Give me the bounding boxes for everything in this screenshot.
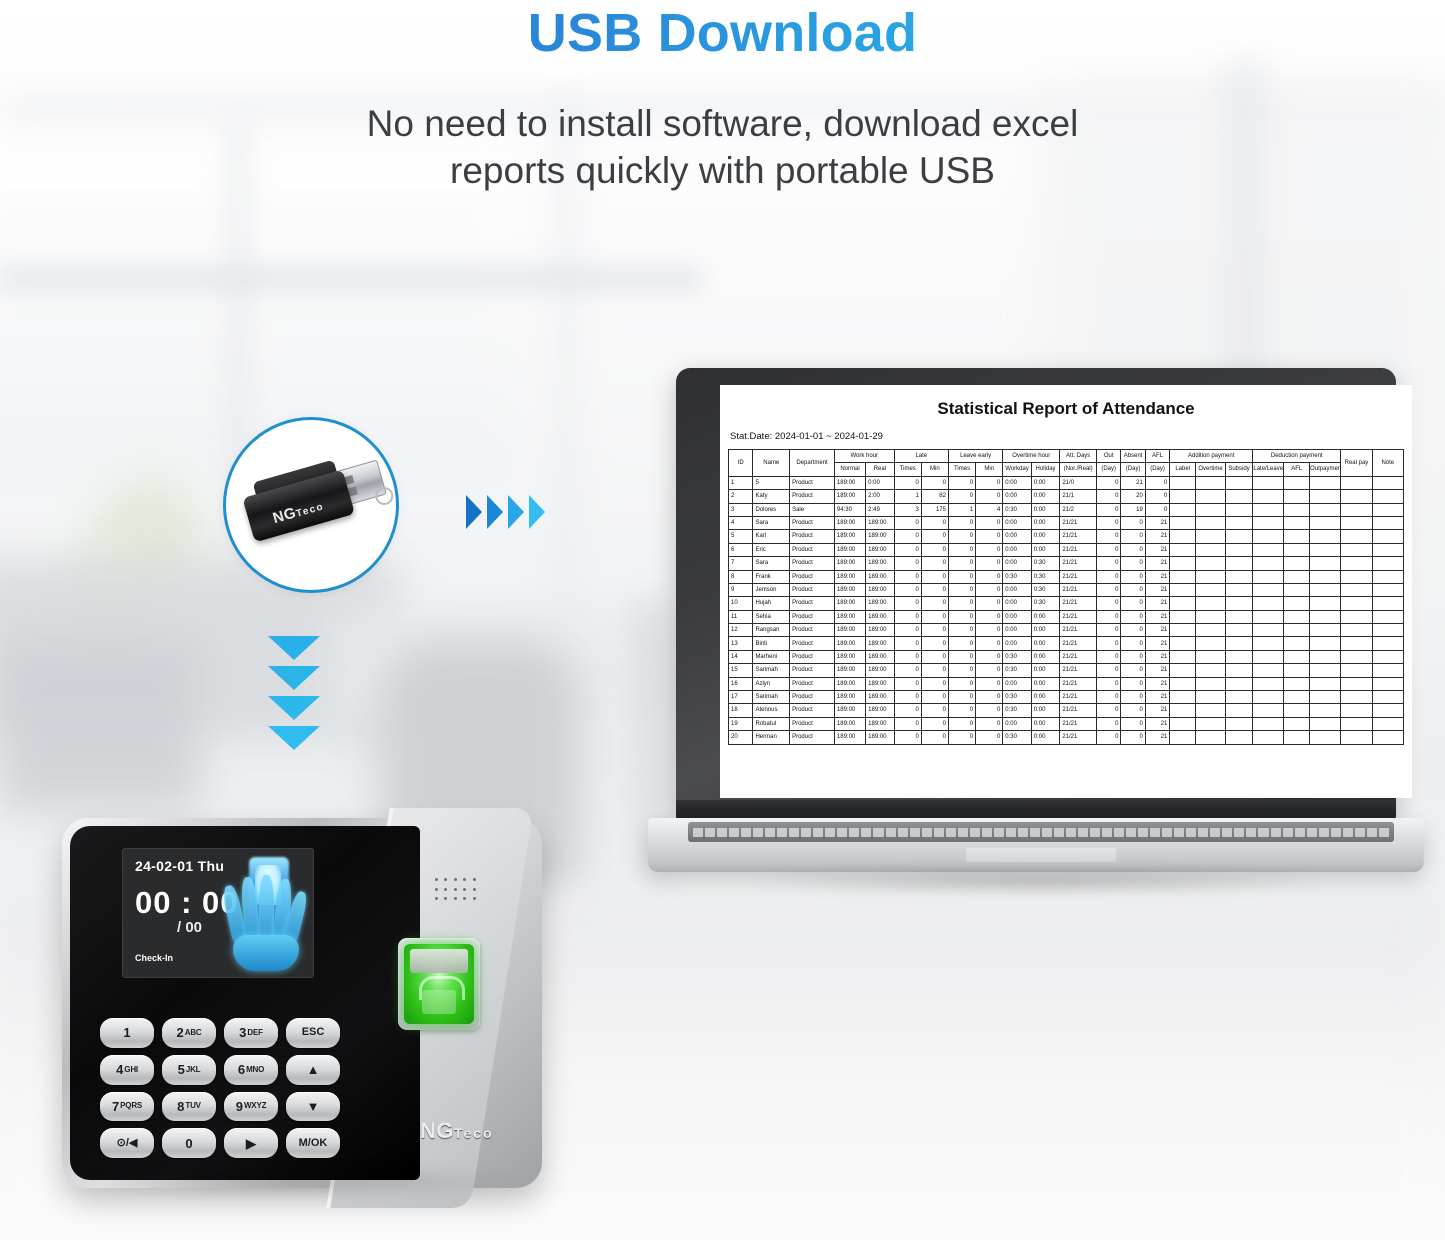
- cell-empty: [1372, 624, 1403, 637]
- laptop-key[interactable]: [1054, 828, 1064, 837]
- cell-empty: [1196, 503, 1226, 516]
- keypad-key-main: ▶: [246, 1137, 256, 1150]
- speaker-hole: [435, 897, 438, 900]
- chevron-right-icon: [508, 495, 524, 529]
- fingerprint-sensor[interactable]: [398, 938, 480, 1030]
- table-row: 17SarimahProduct189:00189:0000000:300:00…: [729, 691, 1404, 704]
- cell-empty: [1253, 731, 1284, 744]
- cell-absent: 0: [1121, 731, 1145, 744]
- keypad-key-sub: ABC: [185, 1029, 202, 1037]
- cell-absent: 0: [1121, 664, 1145, 677]
- cell-empty: [1310, 624, 1341, 637]
- cell-ot_holiday: 0:00: [1031, 637, 1060, 650]
- cell-empty: [1196, 637, 1226, 650]
- cell-late_times: 0: [894, 530, 921, 543]
- cell-empty: [1372, 717, 1403, 730]
- cell-out: 0: [1096, 637, 1120, 650]
- sub-overtime: Overtime: [1196, 463, 1226, 476]
- terminal-shadow: [80, 1168, 520, 1196]
- cell-name: Herman: [753, 731, 790, 744]
- cell-att_days: 21/1: [1060, 490, 1097, 503]
- laptop-key[interactable]: [1114, 828, 1124, 837]
- laptop-key[interactable]: [849, 828, 859, 837]
- cell-empty: [1372, 691, 1403, 704]
- cell-ot_workday: 0:00: [1003, 557, 1032, 570]
- keypad-key-sub: GHI: [124, 1066, 138, 1074]
- cell-att_days: 21/21: [1060, 691, 1097, 704]
- col-id: ID: [729, 450, 753, 477]
- subtitle-line-2: reports quickly with portable USB: [190, 147, 1255, 194]
- table-row: 15SarimahProduct189:00189:0000000:300:00…: [729, 664, 1404, 677]
- cell-name: Sarimah: [753, 664, 790, 677]
- laptop-key[interactable]: [705, 828, 715, 837]
- sub-out-day: (Day): [1096, 463, 1120, 476]
- keypad-key-sub: WXYZ: [244, 1102, 266, 1110]
- cell-out: 0: [1096, 704, 1120, 717]
- cell-normal: 189:00: [834, 610, 865, 623]
- cell-empty: [1170, 664, 1196, 677]
- laptop-key[interactable]: [789, 828, 799, 837]
- sub-le-times: Times: [948, 463, 975, 476]
- cell-name: Hujah: [753, 597, 790, 610]
- cell-empty: [1341, 597, 1372, 610]
- cell-att_days: 21/21: [1060, 516, 1097, 529]
- keypad-button-3[interactable]: 3DEF: [224, 1018, 278, 1048]
- laptop-key[interactable]: [1042, 828, 1052, 837]
- laptop-key[interactable]: [1319, 828, 1329, 837]
- keypad-button-[interactable]: ▶: [224, 1128, 278, 1158]
- cell-empty: [1170, 516, 1196, 529]
- report-title: Statistical Report of Attendance: [728, 399, 1404, 419]
- cell-empty: [1372, 731, 1403, 744]
- sub-late-min: Min: [921, 463, 948, 476]
- laptop-key[interactable]: [898, 828, 908, 837]
- laptop-key[interactable]: [1210, 828, 1220, 837]
- laptop-key[interactable]: [1126, 828, 1136, 837]
- cell-afl: 21: [1145, 704, 1169, 717]
- cell-out: 0: [1096, 557, 1120, 570]
- terminal-brand-main: NG: [420, 1118, 454, 1143]
- cell-id: 19: [729, 717, 753, 730]
- cell-empty: [1372, 650, 1403, 663]
- cell-empty: [1284, 650, 1310, 663]
- cell-empty: [1253, 597, 1284, 610]
- keypad-button-8[interactable]: 8TUV: [162, 1092, 216, 1122]
- table-row: 13BintiProduct189:00189:0000000:000:0021…: [729, 637, 1404, 650]
- keypad-button-[interactable]: ▲: [286, 1055, 340, 1085]
- cell-absent: 0: [1121, 677, 1145, 690]
- cell-le_times: 0: [948, 583, 975, 596]
- laptop-key[interactable]: [1307, 828, 1317, 837]
- laptop-key[interactable]: [825, 828, 835, 837]
- cell-dept: Product: [790, 570, 835, 583]
- cell-le_times: 0: [948, 543, 975, 556]
- keypad-key-main: 3: [239, 1026, 246, 1039]
- cell-afl: 21: [1145, 557, 1169, 570]
- keypad-button-9[interactable]: 9WXYZ: [224, 1092, 278, 1122]
- cell-out: 0: [1096, 717, 1120, 730]
- cell-normal: 189:00: [834, 557, 865, 570]
- speaker-hole: [473, 878, 476, 881]
- laptop-key[interactable]: [910, 828, 920, 837]
- table-row: 9JemsonProduct189:00189:0000000:000:3021…: [729, 583, 1404, 596]
- table-row: 16AzlynProduct189:00189:0000000:000:0021…: [729, 677, 1404, 690]
- keypad-button-mok[interactable]: M/OK: [286, 1128, 340, 1158]
- laptop-key[interactable]: [922, 828, 932, 837]
- laptop-key[interactable]: [1150, 828, 1160, 837]
- laptop-key[interactable]: [1090, 828, 1100, 837]
- cell-empty: [1253, 650, 1284, 663]
- cell-empty: [1372, 677, 1403, 690]
- sub-outpayment: Outpayment: [1310, 463, 1341, 476]
- laptop-key[interactable]: [1066, 828, 1076, 837]
- cell-normal: 189:00: [834, 637, 865, 650]
- cell-afl: 0: [1145, 476, 1169, 489]
- laptop-key[interactable]: [1078, 828, 1088, 837]
- cell-empty: [1284, 637, 1310, 650]
- cell-empty: [1170, 624, 1196, 637]
- laptop-key[interactable]: [1271, 828, 1281, 837]
- cell-late_times: 0: [894, 624, 921, 637]
- laptop-key[interactable]: [741, 828, 751, 837]
- cell-empty: [1170, 503, 1196, 516]
- laptop-key[interactable]: [934, 828, 944, 837]
- cell-att_days: 21/21: [1060, 543, 1097, 556]
- cell-name: Sehia: [753, 610, 790, 623]
- table-row: 8FrankProduct189:00189:0000000:300:3021/…: [729, 570, 1404, 583]
- cell-empty: [1284, 557, 1310, 570]
- laptop-key[interactable]: [813, 828, 823, 837]
- laptop-key[interactable]: [1138, 828, 1148, 837]
- cell-empty: [1196, 731, 1226, 744]
- laptop-keyboard[interactable]: [688, 822, 1394, 842]
- cell-normal: 189:00: [834, 530, 865, 543]
- chevron-right-icon: [487, 495, 503, 529]
- laptop-key[interactable]: [1222, 828, 1232, 837]
- cell-ot_holiday: 0:00: [1031, 650, 1060, 663]
- cell-empty: [1170, 570, 1196, 583]
- hand-scan-icon: [225, 857, 309, 973]
- cell-absent: 20: [1121, 490, 1145, 503]
- table-row: 11SehiaProduct189:00189:0000000:000:0021…: [729, 610, 1404, 623]
- speaker-hole: [463, 888, 466, 891]
- cell-le_min: 0: [976, 610, 1003, 623]
- keypad-button-5[interactable]: 5JKL: [162, 1055, 216, 1085]
- cell-out: 0: [1096, 664, 1120, 677]
- cell-att_days: 21/21: [1060, 664, 1097, 677]
- speaker-hole: [473, 888, 476, 891]
- cell-empty: [1341, 731, 1372, 744]
- cell-att_days: 21/21: [1060, 570, 1097, 583]
- laptop-key[interactable]: [765, 828, 775, 837]
- cell-normal: 189:00: [834, 570, 865, 583]
- cell-late_times: 0: [894, 731, 921, 744]
- cell-empty: [1225, 557, 1252, 570]
- cell-empty: [1253, 557, 1284, 570]
- laptop-key[interactable]: [1283, 828, 1293, 837]
- laptop-key[interactable]: [753, 828, 763, 837]
- cell-empty: [1284, 597, 1310, 610]
- cell-empty: [1225, 503, 1252, 516]
- terminal-clock-seconds: / 00: [177, 919, 202, 936]
- cell-att_days: 21/21: [1060, 624, 1097, 637]
- cell-absent: 0: [1121, 543, 1145, 556]
- keypad-button-7[interactable]: 7PQRS: [100, 1092, 154, 1122]
- report-table: ID Name Department Work hour Late Leave …: [728, 449, 1404, 745]
- terminal-keypad[interactable]: 12ABC3DEFESC4GHI5JKL6MNO▲7PQRS8TUV9WXYZ▼…: [100, 1018, 340, 1158]
- keypad-button-[interactable]: ▼: [286, 1092, 340, 1122]
- usb-brand-logo: NGTeco: [271, 496, 326, 527]
- chevron-down-icon: [268, 726, 320, 750]
- cell-name: Dolores: [753, 503, 790, 516]
- cell-dept: Product: [790, 543, 835, 556]
- cell-ot_holiday: 0:00: [1031, 731, 1060, 744]
- laptop-key[interactable]: [777, 828, 787, 837]
- laptop-lid: Statistical Report of Attendance Stat.Da…: [676, 368, 1396, 820]
- laptop-key[interactable]: [1379, 828, 1389, 837]
- cell-ot_holiday: 0:30: [1031, 583, 1060, 596]
- cell-ot_workday: 0:00: [1003, 490, 1032, 503]
- cell-dept: Product: [790, 557, 835, 570]
- cell-dept: Product: [790, 624, 835, 637]
- cell-empty: [1341, 570, 1372, 583]
- keypad-key-main: 7: [112, 1100, 119, 1113]
- cell-ot_workday: 0:00: [1003, 610, 1032, 623]
- laptop-key[interactable]: [994, 828, 1004, 837]
- cell-late_min: 0: [921, 650, 948, 663]
- cell-le_min: 0: [976, 731, 1003, 744]
- cell-empty: [1310, 570, 1341, 583]
- laptop-key[interactable]: [861, 828, 871, 837]
- cell-normal: 189:00: [834, 597, 865, 610]
- laptop-key[interactable]: [1006, 828, 1016, 837]
- laptop-key[interactable]: [1162, 828, 1172, 837]
- laptop-key[interactable]: [1234, 828, 1244, 837]
- cell-empty: [1310, 597, 1341, 610]
- cell-out: 0: [1096, 650, 1120, 663]
- cell-empty: [1341, 583, 1372, 596]
- cell-ot_workday: 0:00: [1003, 597, 1032, 610]
- cell-normal: 189:00: [834, 731, 865, 744]
- laptop-key[interactable]: [1018, 828, 1028, 837]
- cell-out: 0: [1096, 677, 1120, 690]
- laptop-key[interactable]: [1355, 828, 1365, 837]
- laptop-key[interactable]: [1295, 828, 1305, 837]
- laptop-screen: Statistical Report of Attendance Stat.Da…: [720, 385, 1412, 798]
- cell-empty: [1310, 731, 1341, 744]
- speaker-hole: [444, 878, 447, 881]
- background-monitor: [0, 640, 200, 810]
- cell-absent: 0: [1121, 624, 1145, 637]
- cell-late_times: 0: [894, 610, 921, 623]
- usb-brand-suffix: Teco: [295, 501, 326, 519]
- laptop-key[interactable]: [970, 828, 980, 837]
- keypad-button-1[interactable]: 1: [100, 1018, 154, 1048]
- keypad-button-6[interactable]: 6MNO: [224, 1055, 278, 1085]
- keypad-key-main: 1: [123, 1026, 130, 1039]
- keypad-button-0[interactable]: 0: [162, 1128, 216, 1158]
- cell-afl: 21: [1145, 717, 1169, 730]
- cell-afl: 21: [1145, 583, 1169, 596]
- attendance-report: Statistical Report of Attendance Stat.Da…: [720, 385, 1412, 798]
- cell-empty: [1284, 610, 1310, 623]
- laptop-trackpad[interactable]: [966, 848, 1116, 862]
- cell-empty: [1170, 610, 1196, 623]
- laptop-key[interactable]: [1198, 828, 1208, 837]
- report-table-head: ID Name Department Work hour Late Leave …: [729, 450, 1404, 477]
- laptop-key[interactable]: [1174, 828, 1184, 837]
- cell-real: 189:00: [866, 717, 895, 730]
- table-row: 5KarlProduct189:00189:0000000:000:0021/2…: [729, 530, 1404, 543]
- cell-empty: [1310, 557, 1341, 570]
- cell-empty: [1225, 490, 1252, 503]
- keypad-key-main: 9: [236, 1100, 243, 1113]
- cell-late_min: 0: [921, 664, 948, 677]
- cell-empty: [1253, 516, 1284, 529]
- cell-empty: [1170, 704, 1196, 717]
- cell-ot_workday: 0:00: [1003, 717, 1032, 730]
- cell-empty: [1341, 704, 1372, 717]
- cell-empty: [1253, 691, 1284, 704]
- cell-late_min: 0: [921, 543, 948, 556]
- cell-att_days: 21/21: [1060, 583, 1097, 596]
- cell-late_min: 0: [921, 704, 948, 717]
- laptop-key[interactable]: [693, 828, 703, 837]
- cell-empty: [1253, 583, 1284, 596]
- laptop-key[interactable]: [717, 828, 727, 837]
- cell-empty: [1341, 516, 1372, 529]
- cell-empty: [1341, 476, 1372, 489]
- cell-empty: [1341, 490, 1372, 503]
- cell-normal: 189:00: [834, 677, 865, 690]
- cell-late_min: 0: [921, 476, 948, 489]
- cell-le_times: 0: [948, 490, 975, 503]
- report-stat-date: Stat.Date: 2024-01-01 ~ 2024-01-29: [730, 431, 1404, 442]
- cell-real: 189:00: [866, 570, 895, 583]
- cell-afl: 21: [1145, 597, 1169, 610]
- cell-afl: 0: [1145, 490, 1169, 503]
- chevron-down-icon: [268, 696, 320, 720]
- cell-late_times: 0: [894, 637, 921, 650]
- sub-absent-day: (Day): [1121, 463, 1145, 476]
- laptop-key[interactable]: [729, 828, 739, 837]
- cell-dept: Product: [790, 664, 835, 677]
- cell-empty: [1225, 543, 1252, 556]
- cell-absent: 0: [1121, 610, 1145, 623]
- cell-id: 13: [729, 637, 753, 650]
- fingerprint-pad: [422, 990, 456, 1014]
- laptop-key[interactable]: [801, 828, 811, 837]
- cell-empty: [1284, 731, 1310, 744]
- cell-late_times: 0: [894, 677, 921, 690]
- keypad-button-esc[interactable]: ESC: [286, 1018, 340, 1048]
- cell-dept: Product: [790, 704, 835, 717]
- cell-le_times: 0: [948, 650, 975, 663]
- laptop-key[interactable]: [1367, 828, 1377, 837]
- cell-att_days: 21/21: [1060, 557, 1097, 570]
- laptop-key[interactable]: [873, 828, 883, 837]
- down-arrow-chevrons: [268, 636, 320, 750]
- laptop-key[interactable]: [1246, 828, 1256, 837]
- cell-empty: [1284, 503, 1310, 516]
- keypad-button-4[interactable]: 4GHI: [100, 1055, 154, 1085]
- cell-late_times: 0: [894, 516, 921, 529]
- laptop-key[interactable]: [886, 828, 896, 837]
- cell-empty: [1196, 691, 1226, 704]
- cell-afl: 21: [1145, 530, 1169, 543]
- cell-empty: [1170, 597, 1196, 610]
- cell-empty: [1372, 476, 1403, 489]
- cell-real: 189:00: [866, 664, 895, 677]
- cell-ot_workday: 0:00: [1003, 530, 1032, 543]
- cell-le_times: 0: [948, 731, 975, 744]
- cell-out: 0: [1096, 610, 1120, 623]
- laptop-key[interactable]: [837, 828, 847, 837]
- laptop-key[interactable]: [958, 828, 968, 837]
- cell-ot_workday: 0:00: [1003, 476, 1032, 489]
- cell-empty: [1310, 610, 1341, 623]
- cell-att_days: 21/21: [1060, 704, 1097, 717]
- cell-empty: [1341, 677, 1372, 690]
- cell-absent: 0: [1121, 597, 1145, 610]
- keypad-button-2[interactable]: 2ABC: [162, 1018, 216, 1048]
- cell-empty: [1310, 717, 1341, 730]
- laptop-key[interactable]: [1030, 828, 1040, 837]
- cell-empty: [1225, 597, 1252, 610]
- cell-ot_holiday: 0:00: [1031, 691, 1060, 704]
- laptop-key[interactable]: [1343, 828, 1353, 837]
- laptop-key[interactable]: [982, 828, 992, 837]
- cell-real: 0:00: [866, 476, 895, 489]
- sub-afl-day: (Day): [1145, 463, 1169, 476]
- cell-real: 189:00: [866, 650, 895, 663]
- cell-out: 0: [1096, 691, 1120, 704]
- table-row: 12RangsanProduct189:00189:0000000:000:00…: [729, 624, 1404, 637]
- cell-afl: 21: [1145, 570, 1169, 583]
- cell-empty: [1253, 624, 1284, 637]
- cell-empty: [1170, 530, 1196, 543]
- keypad-key-main: 4: [116, 1063, 123, 1076]
- speaker-hole: [435, 888, 438, 891]
- laptop-key[interactable]: [946, 828, 956, 837]
- col-work-hour: Work hour: [834, 450, 894, 463]
- cell-empty: [1196, 530, 1226, 543]
- palm: [233, 935, 299, 971]
- cell-le_min: 0: [976, 717, 1003, 730]
- cell-name: Sara: [753, 516, 790, 529]
- laptop-key[interactable]: [1102, 828, 1112, 837]
- cell-empty: [1310, 637, 1341, 650]
- laptop-key[interactable]: [1331, 828, 1341, 837]
- cell-empty: [1253, 664, 1284, 677]
- cell-empty: [1225, 677, 1252, 690]
- cell-late_min: 0: [921, 637, 948, 650]
- speaker-hole: [463, 878, 466, 881]
- col-name: Name: [753, 450, 790, 477]
- cell-empty: [1196, 650, 1226, 663]
- cell-late_min: 0: [921, 731, 948, 744]
- keypad-button-[interactable]: ⊙/◀: [100, 1128, 154, 1158]
- cell-absent: 0: [1121, 583, 1145, 596]
- cell-empty: [1310, 476, 1341, 489]
- cell-id: 7: [729, 557, 753, 570]
- cell-empty: [1225, 637, 1252, 650]
- keypad-key-main: 2: [177, 1026, 184, 1039]
- laptop-key[interactable]: [1258, 828, 1268, 837]
- laptop-key[interactable]: [1186, 828, 1196, 837]
- cell-att_days: 21/21: [1060, 637, 1097, 650]
- cell-normal: 189:00: [834, 650, 865, 663]
